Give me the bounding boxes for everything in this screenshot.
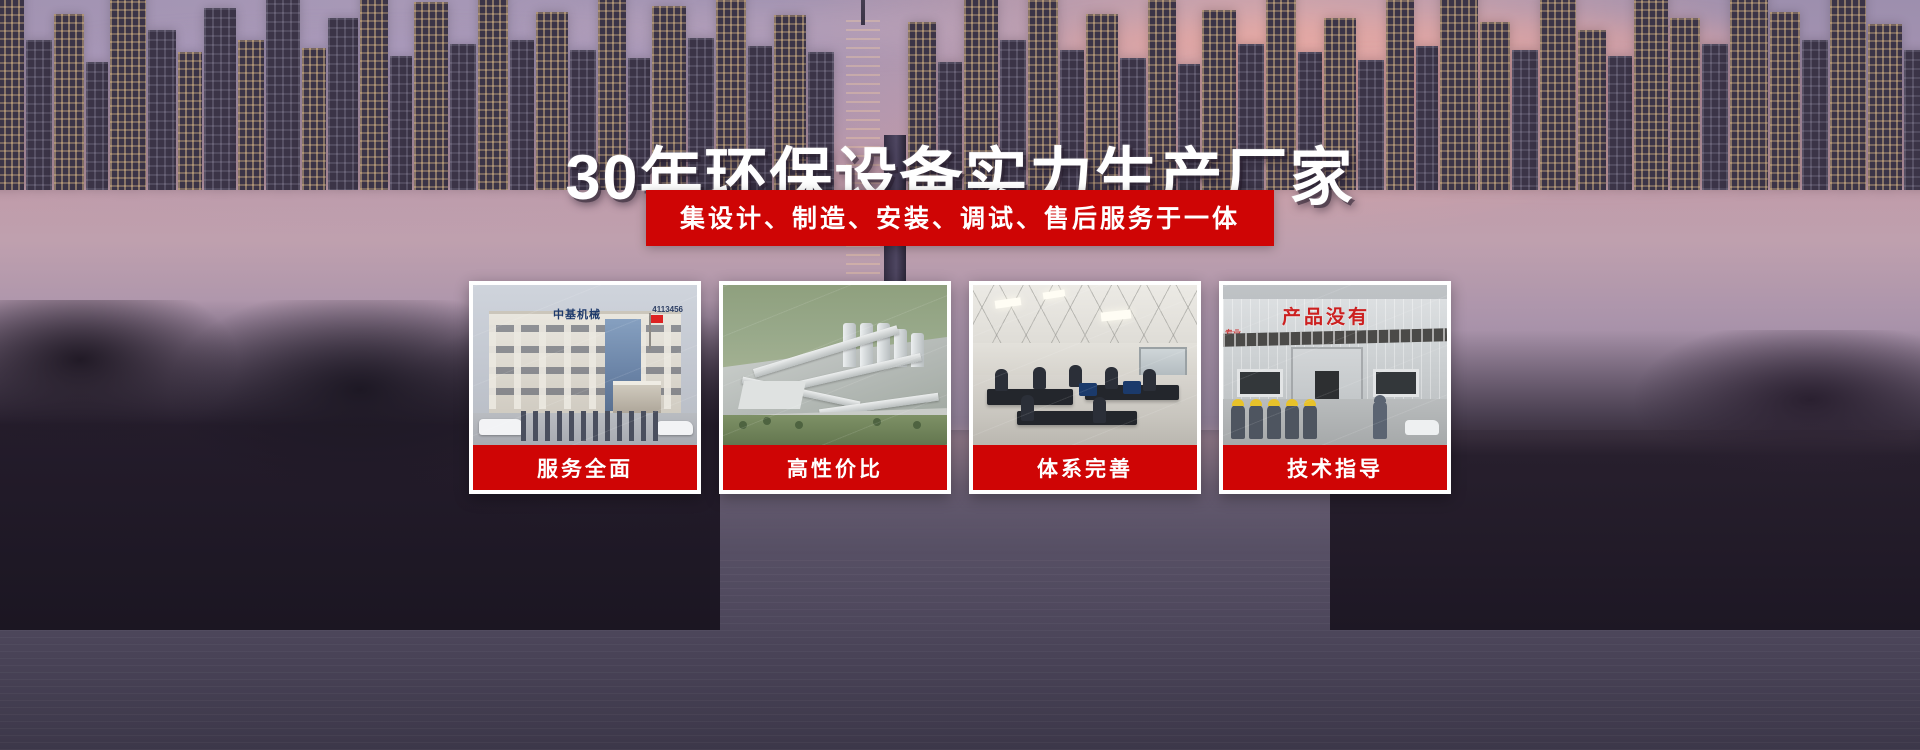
card-photo-office-building: 中基机械 4113456 bbox=[473, 285, 697, 445]
card-photo-industrial-plant bbox=[723, 285, 947, 445]
factory-banner-text: 产品没有 bbox=[1237, 303, 1415, 327]
desk bbox=[1017, 411, 1137, 425]
warehouse-shed bbox=[738, 381, 806, 409]
building-phone-text: 4113456 bbox=[652, 305, 683, 314]
card-photo-factory-workshop: 专业高效 产品没有 bbox=[1223, 285, 1447, 445]
subtitle-container: 集设计、制造、安装、调试、售后服务于一体 bbox=[0, 190, 1920, 246]
factory-window bbox=[1373, 369, 1419, 397]
card-caption: 服务全面 bbox=[473, 445, 697, 490]
parked-car bbox=[657, 421, 693, 435]
building-sign-text: 中基机械 bbox=[531, 307, 623, 320]
card-caption: 技术指导 bbox=[1223, 445, 1447, 490]
feature-card-guidance[interactable]: 专业高效 产品没有 技术指导 bbox=[1219, 281, 1451, 494]
card-photo-office-interior bbox=[973, 285, 1197, 445]
parked-car bbox=[479, 419, 523, 435]
feature-card-system[interactable]: 体系完善 bbox=[969, 281, 1201, 494]
feature-card-list: 中基机械 4113456 服务全面 bbox=[0, 281, 1920, 494]
feature-card-service[interactable]: 中基机械 4113456 服务全面 bbox=[469, 281, 701, 494]
staff-lineup bbox=[521, 411, 661, 441]
card-caption: 体系完善 bbox=[973, 445, 1197, 490]
parked-car bbox=[1405, 420, 1439, 435]
subtitle-badge: 集设计、制造、安装、调试、售后服务于一体 bbox=[646, 190, 1274, 246]
hero-banner: 30年环保设备实力生产厂家 集设计、制造、安装、调试、售后服务于一体 中基机械 … bbox=[0, 0, 1920, 750]
flagpole-icon bbox=[649, 313, 651, 349]
feature-card-value[interactable]: 高性价比 bbox=[719, 281, 951, 494]
banner-content: 30年环保设备实力生产厂家 集设计、制造、安装、调试、售后服务于一体 中基机械 … bbox=[0, 0, 1920, 750]
card-caption: 高性价比 bbox=[723, 445, 947, 490]
factory-window bbox=[1237, 369, 1283, 397]
